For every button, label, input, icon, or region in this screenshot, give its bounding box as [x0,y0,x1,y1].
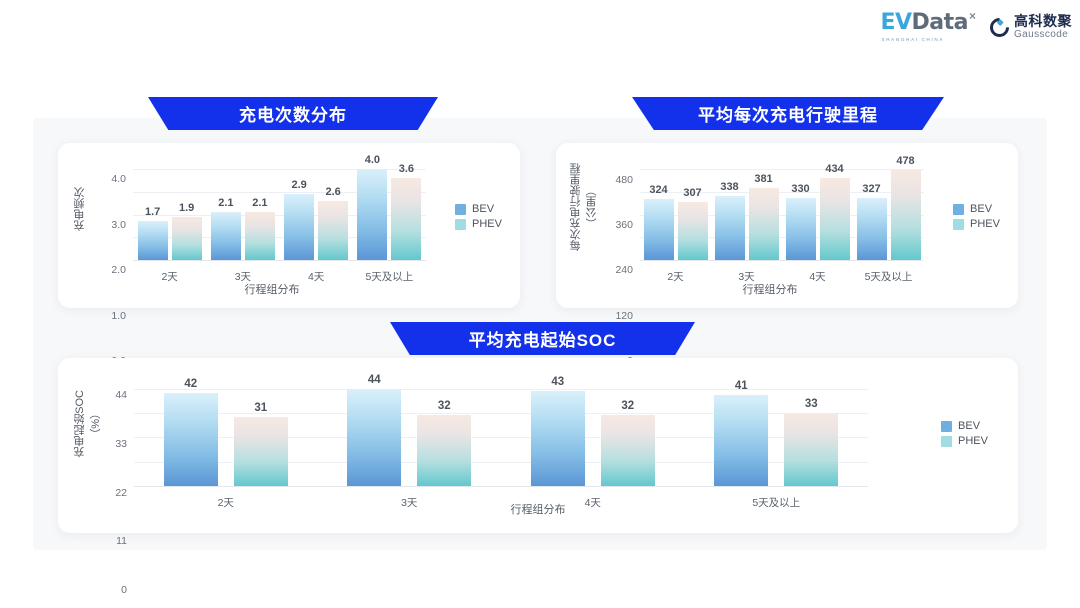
bar-bev[interactable]: 2.1 [211,212,241,260]
bar-group: 4133 [685,395,869,486]
bar-value-label: 32 [438,400,451,412]
bar-value-label: 2.6 [325,186,340,198]
bar-value-label: 2.1 [218,197,233,209]
bar-phev[interactable]: 2.6 [318,201,348,260]
bar-value-label: 33 [805,398,818,410]
bar-bev[interactable]: 43 [531,391,585,486]
legend-swatch-phev-icon [455,219,466,230]
legend-swatch-phev-icon [953,219,964,230]
chart-card-charge-frequency: 充电频次 0.01.02.03.04.01.71.92.12.12.92.64.… [58,143,520,308]
bar-group-container: 324307338381330434327478 [640,159,924,260]
y-axis-title-line-1: 每次充电行驶里程 [568,163,584,251]
bar-phev[interactable]: 33 [784,413,838,486]
legend-item-bev[interactable]: BEV [941,420,988,432]
chart-title-text: 平均每次充电行驶里程 [698,101,878,126]
y-axis-tick-label: 2.0 [111,264,133,276]
legend-item-phev[interactable]: PHEV [455,218,502,230]
chart-title-text: 平均充电起始SOC [469,326,617,351]
y-axis-tick-label: 44 [115,389,134,401]
chart-legend: BEV PHEV [953,203,1000,230]
legend-swatch-bev-icon [953,204,964,215]
bar-bev[interactable]: 42 [164,393,218,486]
y-axis-tick-label: 120 [615,310,640,322]
gausscode-en-text: Gausscode [1014,30,1072,40]
y-axis-title-line-2: （%） [88,408,104,440]
bar-bev[interactable]: 330 [786,198,816,260]
chart-title-text: 充电次数分布 [239,101,347,126]
legend-label-bev: BEV [970,203,992,215]
bar-phev[interactable]: 3.6 [391,178,421,260]
bar-value-label: 1.9 [179,202,194,214]
evdata-ev-text: EV [880,12,911,34]
grid-and-bars: 0120240360480324307338381330434327478 [640,159,924,260]
bar-bev[interactable]: 327 [857,198,887,260]
x-axis-title: 行程组分布 [118,281,426,297]
bar-value-label: 327 [862,183,880,195]
bar-value-label: 4.0 [365,154,380,166]
legend-label-phev: PHEV [970,218,1000,230]
legend-swatch-phev-icon [941,436,952,447]
y-axis-tick-label: 3.0 [111,219,133,231]
bar-group-container: 1.71.92.12.12.92.64.03.6 [133,159,426,260]
legend-swatch-bev-icon [455,204,466,215]
legend-label-bev: BEV [472,203,494,215]
y-axis-tick-label: 0 [121,584,134,596]
y-axis-tick-label: 240 [615,264,640,276]
bar-phev[interactable]: 381 [749,188,779,260]
bar-bev[interactable]: 324 [644,199,674,260]
bar-value-label: 2.9 [291,179,306,191]
bar-group: 327478 [853,170,924,260]
bar-group: 4432 [318,389,502,486]
bar-group: 2.12.1 [206,212,279,260]
grid-and-bars: 0112233444231443243324133 [134,382,868,486]
chart-legend: BEV PHEV [455,203,502,230]
bar-value-label: 338 [720,181,738,193]
bar-value-label: 324 [649,184,667,196]
bar-phev[interactable]: 2.1 [245,212,275,260]
bar-bev[interactable]: 41 [714,395,768,486]
bar-value-label: 1.7 [145,206,160,218]
gridline: 0 [640,260,924,261]
bar-bev[interactable]: 338 [715,196,745,260]
legend-item-bev[interactable]: BEV [953,203,1000,215]
bar-phev[interactable]: 478 [891,170,921,260]
bar-value-label: 478 [896,155,914,167]
y-axis-tick-label: 1.0 [111,310,133,322]
bar-bev[interactable]: 4.0 [357,169,387,260]
bar-group-container: 4231443243324133 [134,382,868,486]
bar-bev[interactable]: 44 [347,389,401,486]
legend-label-bev: BEV [958,420,980,432]
bar-value-label: 2.1 [252,197,267,209]
legend-item-phev[interactable]: PHEV [941,435,988,447]
legend-item-phev[interactable]: PHEV [953,218,1000,230]
chart-card-avg-start-soc: 充电起始SOC （%） 0112233444231443243324133 2天… [58,358,1018,533]
y-axis-title: 每次充电行驶里程 （公里） [568,151,600,263]
y-axis-title: 充电频次 [72,161,88,257]
bar-phev[interactable]: 32 [417,415,471,486]
bar-group: 324307 [640,199,711,260]
chart-card-avg-range: 每次充电行驶里程 （公里） 01202403604803243073383813… [556,143,1018,308]
gausscode-wordmark: 高科数聚 Gausscode [1014,14,1072,40]
bar-value-label: 381 [754,173,772,185]
x-axis-title: 行程组分布 [616,281,924,297]
chart-title-banner-avg-start-soc: 平均充电起始SOC [390,322,695,355]
y-axis-title-line-2: （公里） [584,185,600,229]
bar-phev[interactable]: 307 [678,202,708,260]
y-axis-tick-label: 360 [615,219,640,231]
legend-item-bev[interactable]: BEV [455,203,502,215]
gridline: 0 [134,486,868,487]
slide-canvas: EVData× SHANGHAI CHINA 高科数聚 Gausscode 充电… [0,0,1080,608]
evdata-tagline: SHANGHAI CHINA [881,37,944,42]
gausscode-cn-text: 高科数聚 [1014,14,1072,28]
brand-logo-bar: EVData× SHANGHAI CHINA 高科数聚 Gausscode [880,12,1072,42]
gausscode-mark-icon [986,14,1013,41]
y-axis-tick-label: 11 [116,535,134,547]
y-axis-title-line-1: 充电起始SOC [72,390,88,458]
evdata-data-text: Data [912,12,968,34]
bar-value-label: 42 [184,378,197,390]
bar-group: 4.03.6 [353,169,426,260]
x-axis-title: 行程组分布 [58,501,1018,517]
legend-swatch-bev-icon [941,421,952,432]
bar-value-label: 307 [683,187,701,199]
gausscode-logo: 高科数聚 Gausscode [990,14,1072,40]
y-axis-tick-label: 4.0 [111,173,133,185]
bar-phev[interactable]: 1.9 [172,217,202,260]
y-axis-tick-label: 22 [115,487,134,499]
chart-title-banner-charge-frequency: 充电次数分布 [148,97,438,130]
bar-value-label: 31 [254,402,267,414]
bar-value-label: 434 [825,163,843,175]
bar-value-label: 330 [791,183,809,195]
bar-value-label: 41 [735,380,748,392]
chart-title-banner-avg-range: 平均每次充电行驶里程 [632,97,944,130]
grid-and-bars: 0.01.02.03.04.01.71.92.12.12.92.64.03.6 [133,159,426,260]
bar-group: 1.71.9 [133,217,206,260]
bar-phev[interactable]: 32 [601,415,655,486]
chart-legend: BEV PHEV [941,420,988,447]
evdata-wordmark: EVData× [880,12,976,34]
bar-group: 338381 [711,188,782,260]
bar-bev[interactable]: 2.9 [284,194,314,260]
bar-value-label: 43 [551,376,564,388]
y-axis-tick-label: 480 [615,174,640,186]
legend-label-phev: PHEV [472,218,502,230]
bar-group: 4231 [134,393,318,486]
bar-value-label: 32 [621,400,634,412]
legend-label-phev: PHEV [958,435,988,447]
evdata-x-mark-icon: × [969,9,976,23]
bar-value-label: 3.6 [399,163,414,175]
bar-value-label: 44 [368,374,381,386]
gridline: 0.0 [133,260,426,261]
bar-group: 330434 [782,178,853,260]
bar-group: 2.92.6 [280,194,353,260]
bar-phev[interactable]: 434 [820,178,850,260]
bar-group: 4332 [501,391,685,486]
y-axis-tick-label: 33 [115,438,134,450]
bar-phev[interactable]: 31 [234,417,288,486]
bar-bev[interactable]: 1.7 [138,221,168,260]
y-axis-title: 充电起始SOC （%） [72,378,104,470]
evdata-logo-icon: EVData× SHANGHAI CHINA [880,12,976,42]
